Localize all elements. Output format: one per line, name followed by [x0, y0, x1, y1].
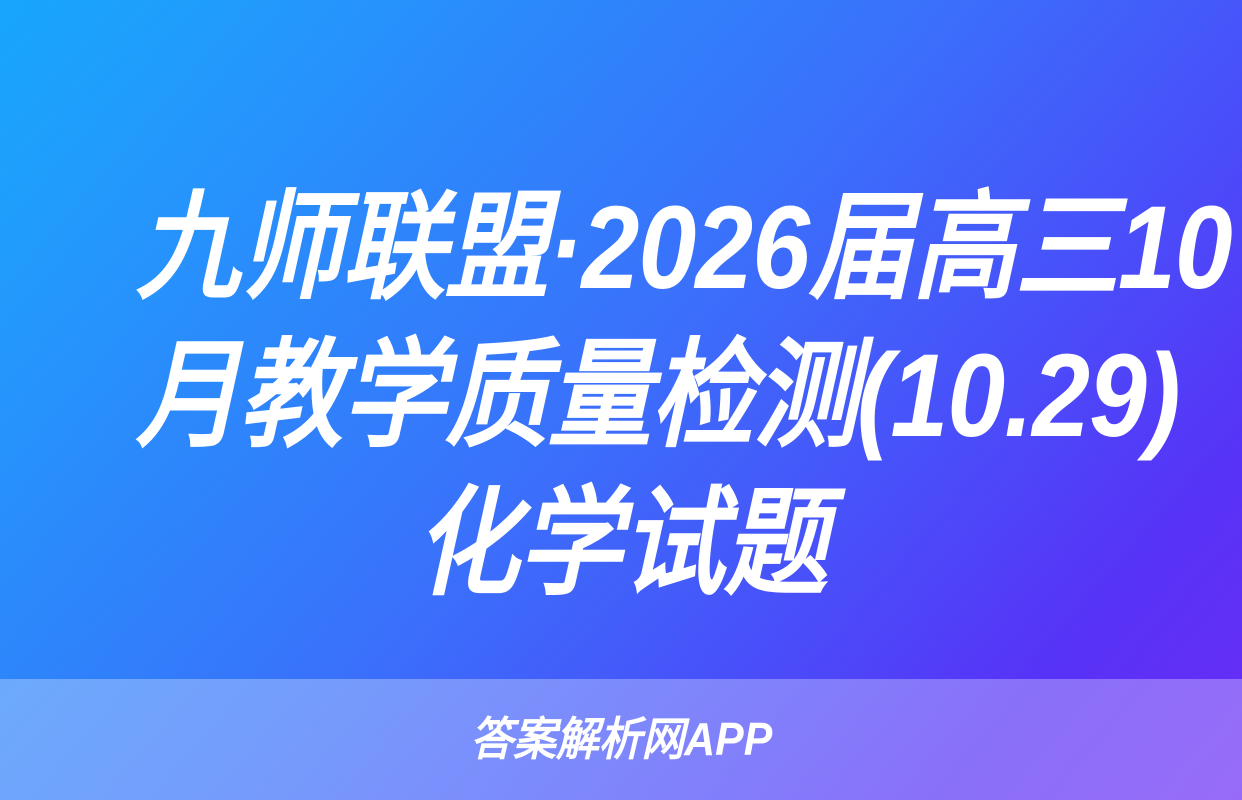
title-line-3: 化学试题: [136, 470, 1106, 618]
footer-band: 答案解析网APP: [0, 679, 1242, 800]
poster-title: 九师联盟·2026届高三10 月教学质量检测(10.29) 化学试题: [0, 174, 1242, 618]
title-line-1: 九师联盟·2026届高三10: [136, 174, 1106, 322]
app-brand-label: 答案解析网APP: [470, 716, 772, 762]
poster-canvas: 九师联盟·2026届高三10 月教学质量检测(10.29) 化学试题 答案解析网…: [0, 0, 1242, 800]
title-line-2: 月教学质量检测(10.29): [136, 322, 1106, 470]
